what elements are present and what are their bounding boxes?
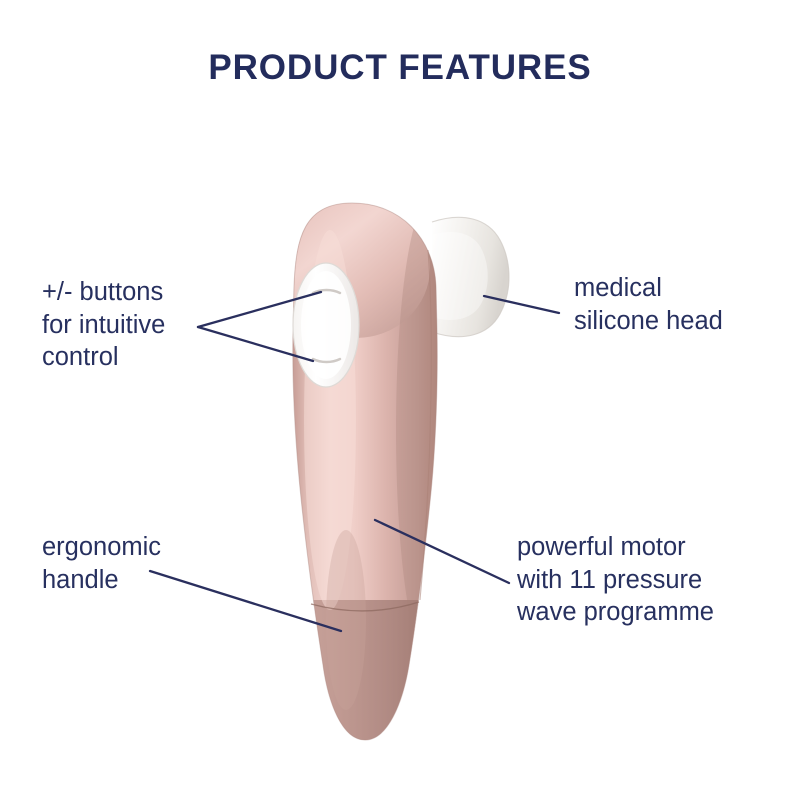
callout-line: for intuitive: [42, 309, 165, 342]
callout-line: wave programme: [517, 596, 714, 629]
callout-line: control: [42, 341, 165, 374]
product-features-infographic: PRODUCT FEATURES: [0, 0, 800, 800]
callout-ergonomic-handle: ergonomic handle: [42, 531, 161, 596]
product-illustration: [0, 0, 800, 800]
callout-line: +/- buttons: [42, 276, 165, 309]
callout-line: powerful motor: [517, 531, 714, 564]
callout-line: with 11 pressure: [517, 564, 714, 597]
control-panel[interactable]: [293, 263, 359, 387]
callout-line: handle: [42, 564, 161, 597]
silicone-head: [428, 217, 509, 336]
callout-powerful-motor: powerful motor with 11 pressure wave pro…: [517, 531, 714, 629]
callout-line: medical: [574, 272, 723, 305]
callout-plus-minus-buttons: +/- buttons for intuitive control: [42, 276, 165, 374]
callout-line: ergonomic: [42, 531, 161, 564]
callout-line: silicone head: [574, 305, 723, 338]
callout-medical-silicone-head: medical silicone head: [574, 272, 723, 337]
